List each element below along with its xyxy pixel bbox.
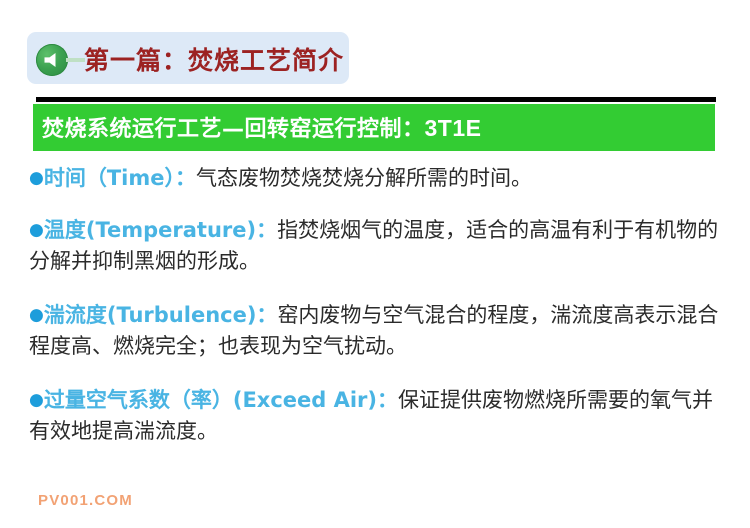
- page-title: 第一篇：焚烧工艺简介: [84, 41, 344, 77]
- section-header-tag: 3T1E: [425, 115, 482, 141]
- bullet-dot-icon: ●: [29, 168, 44, 188]
- section-header-label: 焚烧系统运行工艺—回转窑运行控制：3T1E: [42, 111, 482, 143]
- bullet-term: 湍流度(Turbulence)：: [44, 303, 278, 327]
- bullet-list: ●时间（Time）：气态废物焚烧焚烧分解所需的时间。 ●温度(Temperatu…: [29, 163, 729, 447]
- list-item: ●湍流度(Turbulence)：窑内废物与空气混合的程度，湍流度高表示混合程度…: [29, 300, 729, 362]
- header-top-rule: [36, 97, 716, 102]
- slide-page: { "slide": { "title": { "icon": "green-c…: [0, 0, 750, 528]
- bullet-dot-icon: ●: [29, 305, 44, 325]
- bullet-paragraph: ●过量空气系数（率）(Exceed Air)：保证提供废物燃烧所需要的氧气并有效…: [29, 385, 729, 447]
- bullet-body: 气态废物焚烧焚烧分解所需的时间。: [196, 166, 532, 190]
- bullet-dot-icon: ●: [29, 390, 44, 410]
- section-header-text-cjk: 焚烧系统运行工艺—回转窑运行控制：: [42, 117, 425, 142]
- list-item: ●时间（Time）：气态废物焚烧焚烧分解所需的时间。: [29, 163, 729, 194]
- title-connector-line: [66, 58, 85, 62]
- bullet-term: 时间（Time）：: [44, 166, 196, 190]
- bullet-paragraph: ●温度(Temperature)：指焚烧烟气的温度，适合的高温有利于有机物的分解…: [29, 215, 729, 277]
- section-header-bar: 焚烧系统运行工艺—回转窑运行控制：3T1E: [33, 104, 715, 151]
- bullet-dot-icon: ●: [29, 220, 44, 240]
- watermark-label: PV001.COM: [38, 492, 133, 509]
- bullet-paragraph: ●时间（Time）：气态废物焚烧焚烧分解所需的时间。: [29, 163, 729, 194]
- list-item: ●温度(Temperature)：指焚烧烟气的温度，适合的高温有利于有机物的分解…: [29, 215, 729, 277]
- list-item: ●过量空气系数（率）(Exceed Air)：保证提供废物燃烧所需要的氧气并有效…: [29, 385, 729, 447]
- bullet-term: 温度(Temperature)：: [44, 218, 277, 242]
- green-circle-left-arrow-icon: [36, 44, 68, 76]
- bullet-paragraph: ●湍流度(Turbulence)：窑内废物与空气混合的程度，湍流度高表示混合程度…: [29, 300, 729, 362]
- bullet-term: 过量空气系数（率）(Exceed Air)：: [44, 388, 398, 412]
